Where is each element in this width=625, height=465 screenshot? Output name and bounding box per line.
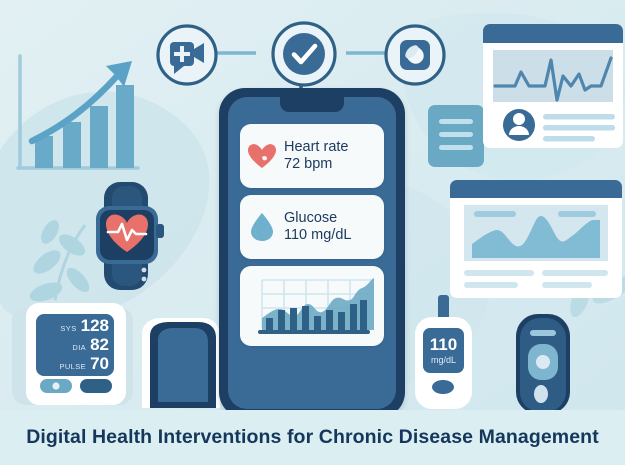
analytics-dashboard-card[interactable] [446,180,625,304]
gm-button [432,380,454,394]
process-step-telehealth[interactable] [154,22,220,88]
ecg-dashboard-card[interactable] [483,24,625,152]
bp-value-sys: 128 [81,317,109,334]
growth-bar-chart [8,28,158,188]
bp-display: SYS 128 DIA 82 PULSE 70 [36,314,114,376]
bp-row-pulse: PULSE 70 [41,355,109,374]
water-drop-icon [240,212,284,242]
metric-card-glucose[interactable]: Glucose 110 mg/dL [240,195,384,259]
bar-2 [63,122,81,168]
metric-label-heart-rate: Heart rate [284,139,348,156]
gm-unit: mg/dL [431,355,456,365]
glucose-meter[interactable]: 110 mg/dL [415,317,472,409]
metric-label-glucose: Glucose [284,210,351,227]
process-step-verified[interactable] [268,18,340,90]
metric-value-glucose: 110 mg/dL [284,227,351,244]
bar-3 [90,106,108,168]
metric-card-heart-rate-text: Heart rate 72 bpm [284,139,348,172]
phone-screen: Heart rate 72 bpm Glucose 110 mg/dL [228,97,396,409]
bp-row-dia: DIA 82 [41,336,109,355]
smartwatch[interactable] [82,180,180,292]
metric-value-heart-rate: 72 bpm [284,156,348,173]
bar-4 [116,85,134,168]
bp-tag-dia: DIA [72,343,86,352]
metric-card-chart[interactable] [240,266,384,346]
bp-value-dia: 82 [90,336,109,353]
list-lines-icon [439,119,473,150]
bp-tag-pulse: PULSE [59,362,86,371]
blood-pressure-monitor[interactable]: SYS 128 DIA 82 PULSE 70 [12,303,133,409]
bp-value-pulse: 70 [90,355,109,372]
gm-value: 110 [430,336,457,353]
trend-chart-icon [240,266,384,346]
user-avatar-icon [503,109,535,141]
page-title: Digital Health Interventions for Chronic… [26,426,599,449]
smartphone[interactable]: Heart rate 72 bpm Glucose 110 mg/dL [219,88,405,418]
gm-display: 110 mg/dL [423,328,464,373]
title-banner: Digital Health Interventions for Chronic… [0,410,625,465]
phone-notch [280,97,344,112]
metric-card-heart-rate[interactable]: Heart rate 72 bpm [240,124,384,188]
illustration-canvas: SYS 128 DIA 82 PULSE 70 110 mg/dL [0,0,625,465]
metric-card-glucose-text: Glucose 110 mg/dL [284,210,351,243]
process-step-medication[interactable] [382,22,448,88]
bp-button-right [80,379,112,393]
heart-icon [240,142,284,170]
pulse-oximeter[interactable] [512,312,580,416]
bp-cuff[interactable] [136,316,222,414]
check-circle-icon [283,33,325,75]
bp-tag-sys: SYS [60,324,76,333]
bp-row-sys: SYS 128 [41,317,109,336]
